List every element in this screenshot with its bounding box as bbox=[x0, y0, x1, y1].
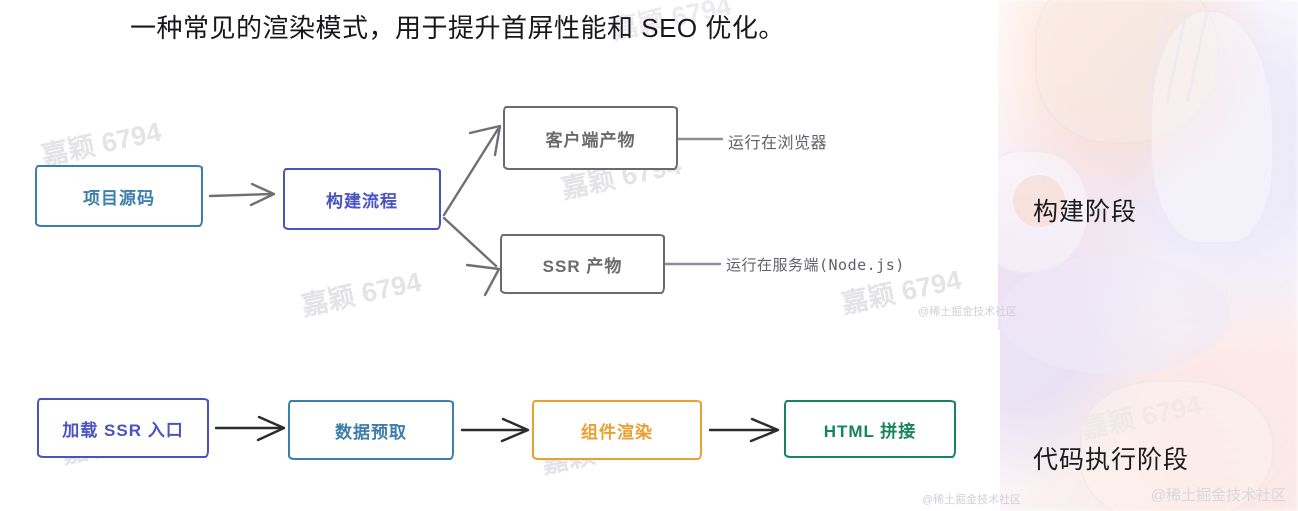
box-project-source-label: 项目源码 bbox=[83, 184, 155, 209]
background-shape bbox=[1000, 255, 1230, 375]
box-ssr-artifact-label: SSR 产物 bbox=[543, 252, 623, 277]
watermark-corner: @稀土掘金技术社区 bbox=[1151, 484, 1286, 505]
note-runs-on-server: 运行在服务端(Node.js) bbox=[726, 254, 905, 275]
box-html-concat-label: HTML 拼接 bbox=[824, 417, 917, 442]
box-load-ssr-entry-label: 加载 SSR 入口 bbox=[62, 416, 183, 441]
watermark-community: @稀土掘金技术社区 bbox=[918, 303, 1017, 319]
box-client-artifact-label: 客户端产物 bbox=[546, 126, 636, 151]
note-runs-in-browser: 运行在浏览器 bbox=[728, 129, 827, 153]
box-build-process-label: 构建流程 bbox=[326, 187, 398, 212]
box-load-ssr-entry[interactable]: 加载 SSR 入口 bbox=[37, 398, 209, 458]
watermark-community: @稀土掘金技术社区 bbox=[922, 491, 1021, 507]
box-component-render-label: 组件渲染 bbox=[581, 418, 653, 443]
stage-label-runtime: 代码执行阶段 bbox=[1033, 440, 1189, 476]
box-ssr-artifact[interactable]: SSR 产物 bbox=[500, 234, 665, 294]
background-shape bbox=[1150, 10, 1274, 244]
box-data-prefetch[interactable]: 数据预取 bbox=[288, 400, 454, 460]
slide-canvas: 嘉颖 6794 嘉颖 6794 嘉颖 6794 嘉颖 6794 嘉颖 6794 … bbox=[0, 0, 1298, 511]
box-data-prefetch-label: 数据预取 bbox=[335, 418, 407, 443]
page-title: 一种常见的渲染模式，用于提升首屏性能和 SEO 优化。 bbox=[130, 8, 785, 45]
box-html-concat[interactable]: HTML 拼接 bbox=[784, 400, 956, 458]
box-component-render[interactable]: 组件渲染 bbox=[532, 400, 702, 460]
stage-label-build: 构建阶段 bbox=[1033, 192, 1137, 228]
box-client-artifact[interactable]: 客户端产物 bbox=[503, 106, 678, 170]
box-build-process[interactable]: 构建流程 bbox=[283, 168, 441, 230]
box-project-source[interactable]: 项目源码 bbox=[35, 165, 203, 227]
